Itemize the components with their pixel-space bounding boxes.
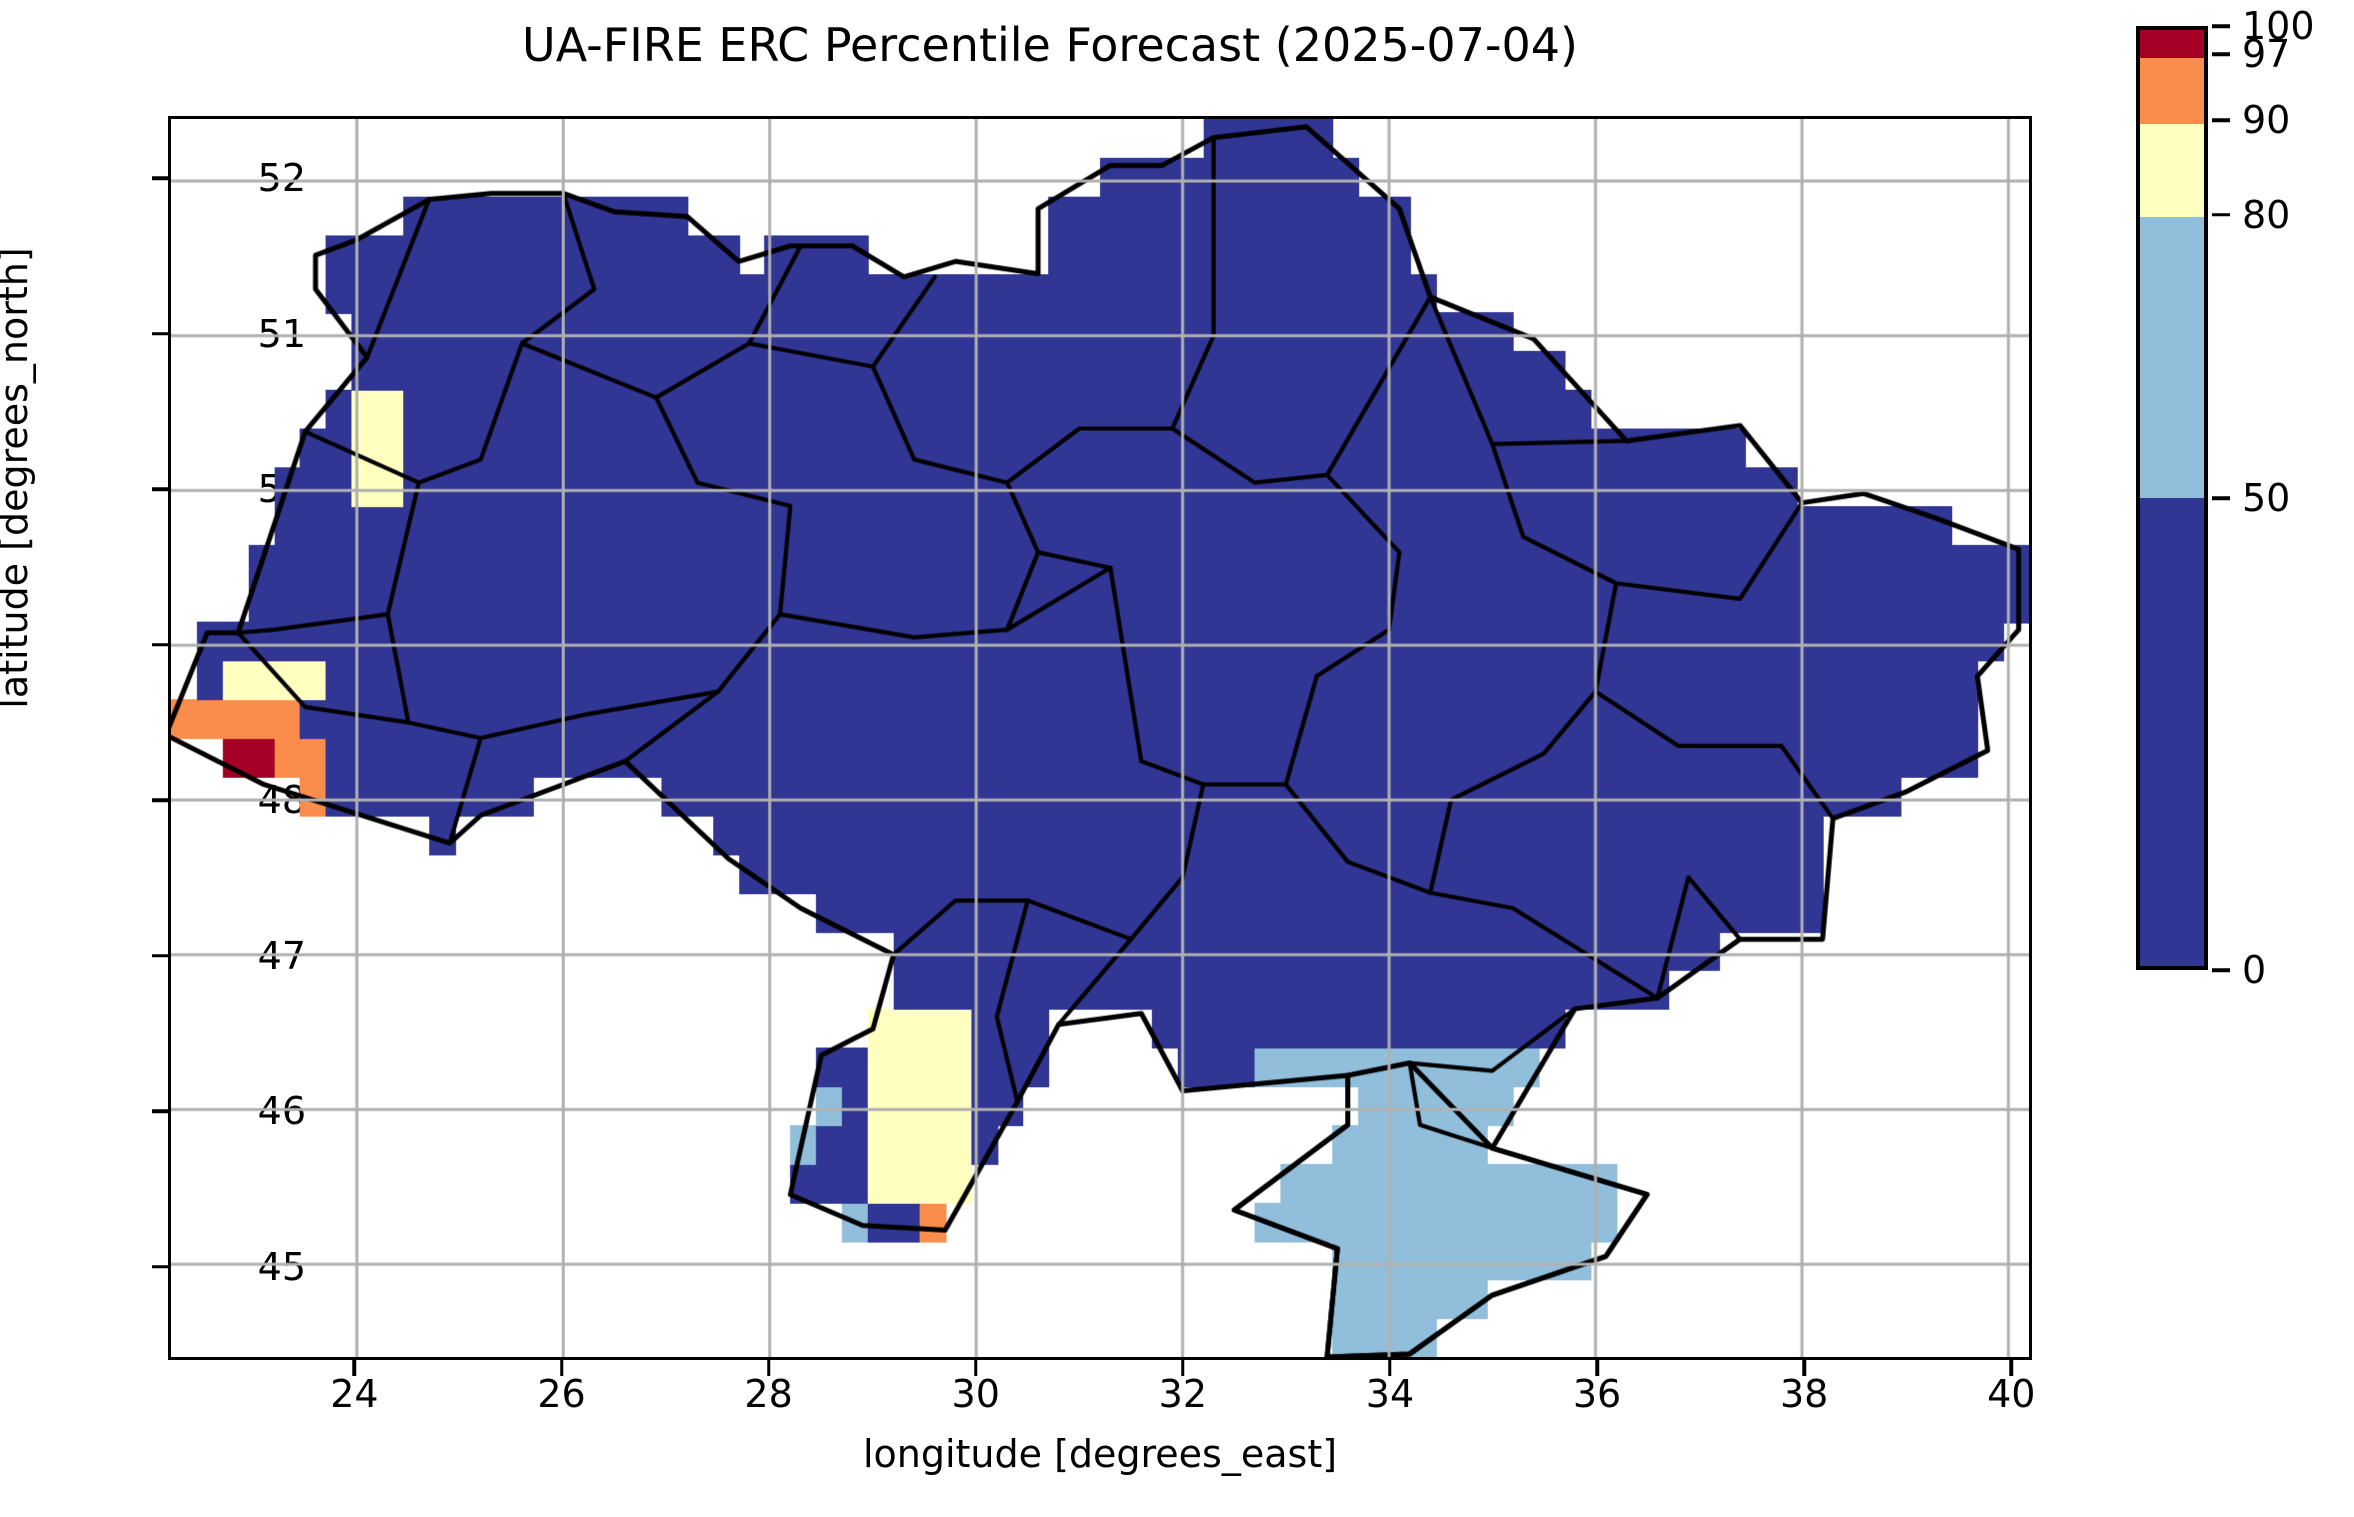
y-axis-label: latitude [degrees_north] — [0, 218, 36, 738]
colorbar-tick-label-50: 50 — [2242, 476, 2290, 520]
colorbar-segment-1 — [2140, 58, 2204, 124]
map-plot-area[interactable] — [168, 116, 2032, 1360]
x-tick-label-24: 24 — [330, 1372, 378, 1416]
x-tick-label-34: 34 — [1366, 1372, 1414, 1416]
page-title: UA-FIRE ERC Percentile Forecast (2025-07… — [0, 18, 2100, 72]
x-tick-mark-36 — [1595, 1360, 1599, 1376]
x-tick-mark-34 — [1388, 1360, 1392, 1376]
x-tick-label-28: 28 — [744, 1372, 792, 1416]
x-tick-mark-40 — [2010, 1360, 2014, 1376]
y-tick-mark-47 — [152, 954, 168, 958]
colorbar[interactable] — [2136, 26, 2208, 970]
colorbar-tick-label-90: 90 — [2242, 98, 2290, 142]
x-tick-label-26: 26 — [537, 1372, 585, 1416]
x-tick-mark-30 — [974, 1360, 978, 1376]
x-tick-mark-26 — [560, 1360, 564, 1376]
y-tick-mark-45 — [152, 1265, 168, 1269]
colorbar-segment-0 — [2140, 30, 2204, 58]
y-tick-mark-46 — [152, 1109, 168, 1113]
x-tick-mark-38 — [1802, 1360, 1806, 1376]
y-tick-mark-48 — [152, 798, 168, 802]
colorbar-tick-mark-97 — [2212, 53, 2230, 57]
colorbar-tick-mark-80 — [2212, 213, 2230, 217]
colorbar-segment-4 — [2140, 498, 2204, 966]
colorbar-tick-mark-90 — [2212, 119, 2230, 123]
x-tick-mark-32 — [1181, 1360, 1185, 1376]
figure-root: UA-FIRE ERC Percentile Forecast (2025-07… — [0, 0, 2354, 1517]
y-tick-mark-52 — [152, 176, 168, 180]
x-tick-mark-24 — [353, 1360, 357, 1376]
x-tick-label-30: 30 — [952, 1372, 1000, 1416]
colorbar-segment-2 — [2140, 124, 2204, 218]
x-axis-label: longitude [degrees_east] — [168, 1432, 2032, 1476]
colorbar-tick-label-80: 80 — [2242, 193, 2290, 237]
axes-gridlines — [171, 119, 2029, 1357]
x-tick-mark-28 — [767, 1360, 771, 1376]
colorbar-tick-mark-0 — [2212, 968, 2230, 972]
y-tick-mark-49 — [152, 643, 168, 647]
y-tick-mark-50 — [152, 487, 168, 491]
x-tick-label-36: 36 — [1573, 1372, 1621, 1416]
x-tick-label-38: 38 — [1780, 1372, 1828, 1416]
colorbar-tick-mark-50 — [2212, 496, 2230, 500]
x-tick-label-40: 40 — [1987, 1372, 2035, 1416]
colorbar-segment-3 — [2140, 217, 2204, 498]
colorbar-tick-mark-100 — [2212, 24, 2230, 28]
y-tick-mark-51 — [152, 332, 168, 336]
x-tick-label-32: 32 — [1159, 1372, 1207, 1416]
colorbar-tick-label-97: 97 — [2242, 32, 2290, 76]
colorbar-tick-label-0: 0 — [2242, 948, 2266, 992]
